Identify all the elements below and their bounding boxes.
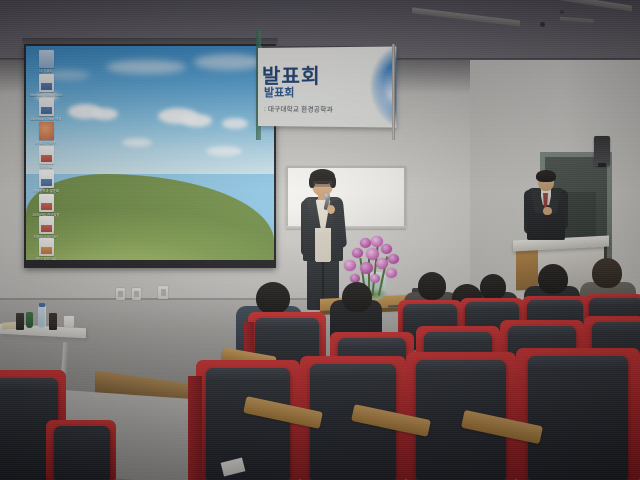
presenter-glasses: [313, 181, 332, 186]
audience-head: [538, 264, 568, 294]
desktop-icon[interactable]: 환경공학과 발표회: [29, 170, 63, 193]
ppt-doc-icon: [39, 238, 54, 256]
pdf-doc-icon: [39, 146, 54, 164]
orchid-bloom: [388, 254, 399, 264]
wallpaper-hill: [26, 174, 274, 260]
water-bottle: [38, 306, 46, 328]
orchid-bloom: [376, 258, 388, 269]
desktop-icon[interactable]: 2009년도 연구발표: [29, 194, 63, 217]
ceiling-sensor: [560, 10, 564, 14]
orchid-bloom: [370, 274, 380, 283]
orchid-bloom: [344, 260, 356, 271]
photo-scene: 내 컴퓨터 Microsoft Office Word Microsoft Of…: [0, 0, 640, 480]
cloud: [182, 114, 212, 127]
desktop-icon[interactable]: Microsoft Office Word: [29, 74, 63, 97]
ceiling-sensor: [540, 22, 545, 27]
cloud-wisp: [106, 60, 186, 74]
coffee-can: [16, 313, 24, 330]
light-switch[interactable]: [158, 286, 168, 299]
coffee-can: [49, 313, 57, 330]
orchid-bloom: [352, 248, 363, 258]
audience-head: [256, 282, 290, 314]
banner-pole: [392, 44, 395, 140]
microphone-head: [324, 193, 330, 199]
orchid-bloom: [366, 248, 379, 260]
desktop-icon[interactable]: 발표자료: [29, 146, 63, 169]
desktop-icon[interactable]: Microsoft Office 엑셀: [29, 98, 63, 121]
audience-head: [418, 272, 446, 300]
audience-head: [480, 274, 506, 300]
round-app-icon: [39, 122, 54, 140]
audience-head: [342, 282, 372, 312]
word-doc-icon: [39, 98, 54, 116]
paper-cup: [64, 316, 74, 328]
green-bottle: [26, 312, 33, 328]
presenter-sweater-lower: [316, 232, 330, 262]
bottle-cap: [39, 303, 45, 307]
wall-socket: [116, 288, 125, 300]
cloud: [222, 118, 248, 129]
pdf-doc-icon: [39, 194, 54, 212]
event-banner: 발표회 발표회 : 대구대학교 환경공학과: [258, 46, 396, 127]
computer-icon: [39, 50, 54, 68]
staff-hands: [543, 207, 552, 215]
word-doc-icon: [39, 170, 54, 188]
audience-head: [592, 258, 622, 288]
presenter-hand: [327, 205, 335, 214]
banner-subtitle: 발표회: [264, 84, 295, 100]
wall-speaker: [594, 136, 610, 166]
orchid-bloom: [360, 262, 373, 274]
wall-socket: [132, 288, 141, 300]
orchid-bloom: [386, 268, 397, 278]
cloud: [122, 138, 152, 147]
word-doc-icon: [39, 74, 54, 92]
projection-screen: 내 컴퓨터 Microsoft Office Word Microsoft Of…: [26, 46, 274, 260]
orchid-bloom: [360, 238, 371, 248]
desktop-icon[interactable]: 최종보고서(PDF): [29, 216, 63, 239]
cloud: [206, 146, 242, 156]
desktop-icon[interactable]: PPT 발표자료: [29, 238, 63, 260]
cloud: [92, 108, 118, 120]
desktop-icon[interactable]: 새 폴더(인터넷): [29, 122, 63, 145]
pdf-doc-icon: [39, 216, 54, 234]
orchid-bloom: [381, 244, 392, 254]
desktop-icon[interactable]: 내 컴퓨터: [29, 50, 63, 73]
banner-swoosh-highlight: [331, 53, 392, 128]
cloud-wisp: [194, 54, 264, 70]
speaker-bracket: [598, 163, 606, 167]
banner-organization: : 대구대학교 환경공학과: [264, 103, 333, 114]
podium-wood-panel: [516, 246, 538, 291]
staff-hair: [536, 170, 556, 182]
